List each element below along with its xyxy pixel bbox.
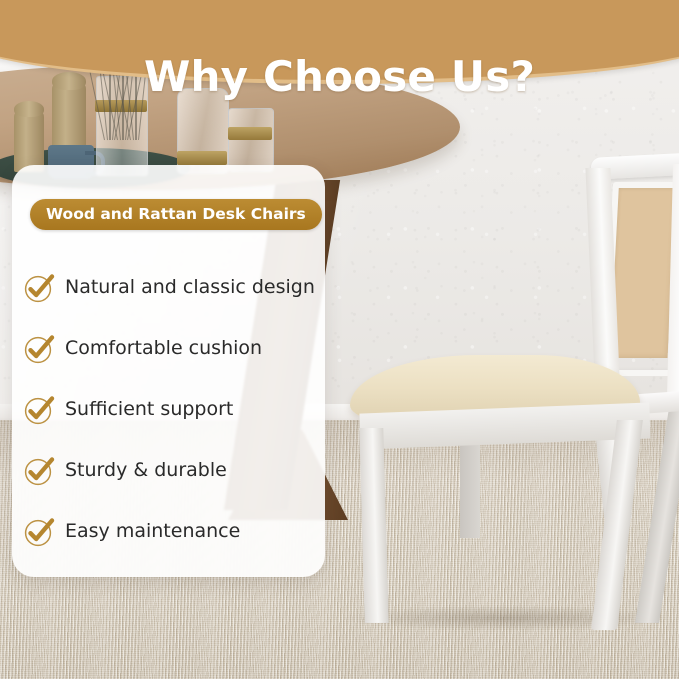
feature-item: Sufficient support (22, 379, 315, 440)
chair-leg-back-right (635, 408, 679, 623)
check-circle-icon (22, 515, 56, 549)
feature-label: Sturdy & durable (65, 461, 227, 480)
glass-jar (228, 108, 274, 172)
feature-label: Comfortable cushion (65, 339, 262, 358)
feature-item: Natural and classic design (22, 257, 315, 318)
chair-shadow (340, 605, 670, 631)
pillar-candle (14, 110, 44, 172)
product-feature-image: Why Choose Us? Wood and Rattan Desk Chai… (0, 0, 679, 679)
chair-leg-front-left (359, 428, 388, 623)
feature-item: Sturdy & durable (22, 440, 315, 501)
feature-label: Easy maintenance (65, 522, 240, 541)
feature-label: Sufficient support (65, 400, 233, 419)
jar-lid (228, 127, 272, 140)
feature-list: Natural and classic designComfortable cu… (22, 257, 315, 562)
feature-label: Natural and classic design (65, 278, 315, 297)
rattan-back-dining-chair (340, 150, 679, 620)
jar-lid (177, 151, 227, 165)
feature-item: Easy maintenance (22, 501, 315, 562)
check-circle-icon (22, 271, 56, 305)
check-circle-icon (22, 332, 56, 366)
feature-item: Comfortable cushion (22, 318, 315, 379)
check-circle-icon (22, 454, 56, 488)
check-circle-icon (22, 393, 56, 427)
product-category-badge: Wood and Rattan Desk Chairs (30, 199, 322, 230)
feature-card: Wood and Rattan Desk Chairs Natural and … (12, 165, 325, 577)
page-title: Why Choose Us? (0, 52, 679, 101)
